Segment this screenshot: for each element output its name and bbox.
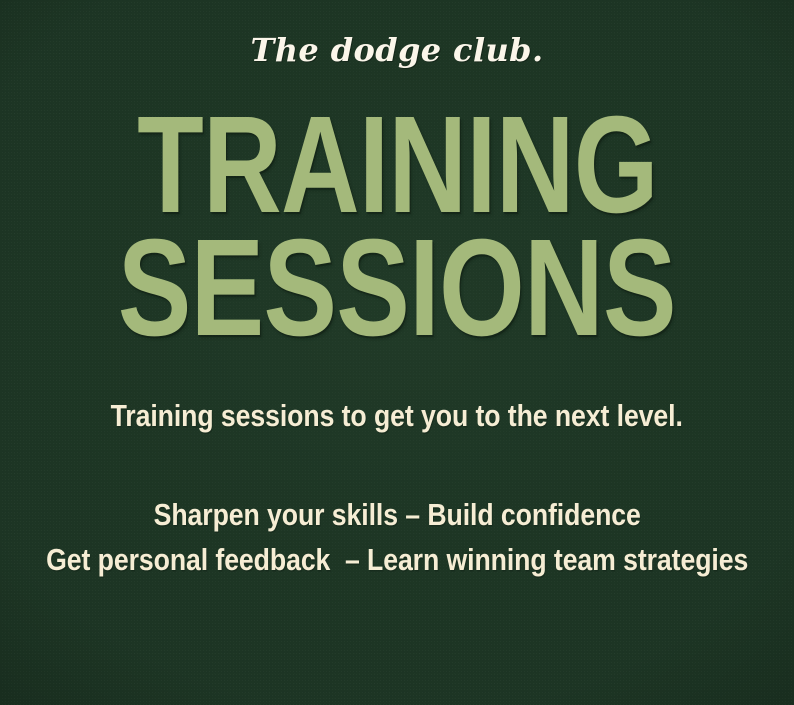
poster-content: The dodge club. TRAINING SESSIONS Traini… (0, 0, 794, 705)
headline-line-sessions: SESSIONS (118, 228, 676, 349)
headline-block: TRAINING SESSIONS (48, 105, 746, 350)
training-sessions-poster: The dodge club. TRAINING SESSIONS Traini… (0, 0, 794, 705)
poster-subtitle: Training sessions to get you to the next… (111, 398, 683, 434)
benefits-list: Sharpen your skills – Build confidence G… (0, 497, 794, 578)
benefit-line-2: Get personal feedback – Learn winning te… (46, 542, 748, 578)
brand-logo-text: The dodge club. (251, 34, 544, 66)
headline-line-training: TRAINING (137, 105, 658, 226)
benefit-line-1: Sharpen your skills – Build confidence (153, 497, 640, 533)
